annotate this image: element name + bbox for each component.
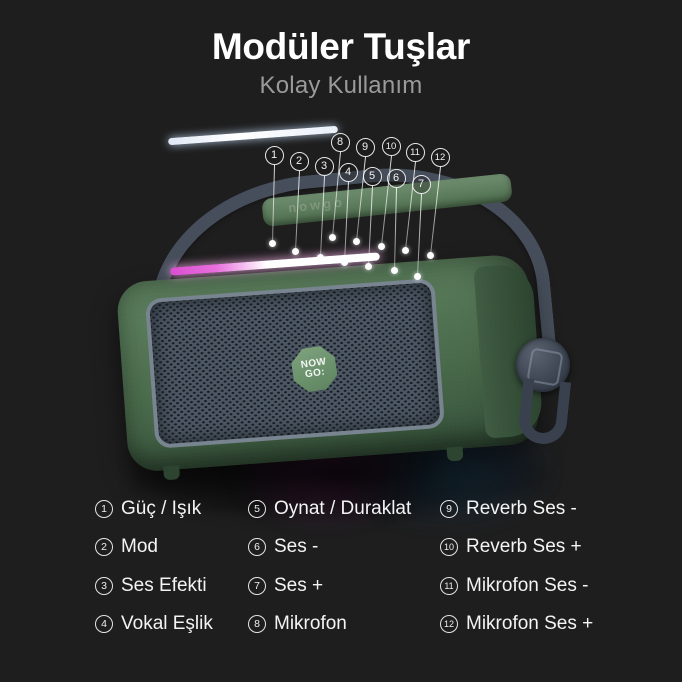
speaker-foot-right [447,446,464,461]
callout-endpoint-10 [378,243,385,250]
legend-label-4: Vokal Eşlik [121,613,213,635]
legend-label-3: Ses Efekti [121,575,207,597]
callout-endpoint-4 [341,259,348,266]
callout-marker-9[interactable]: 9 [356,138,375,157]
legend-number-3: 3 [95,577,113,595]
legend-list: 1Güç / Işık2Mod3Ses Efekti4Vokal Eşlik5O… [0,488,682,668]
legend-number-7: 7 [248,577,266,595]
legend-item-11: 11Mikrofon Ses - [440,575,588,597]
product-photo: nowgo nowgo NOW GO: 123456789101112 [0,110,682,480]
legend-number-1: 1 [95,500,113,518]
callout-endpoint-6 [391,267,398,274]
callout-endpoint-5 [365,263,372,270]
callout-marker-8[interactable]: 8 [331,133,350,152]
legend-number-4: 4 [95,615,113,633]
speaker-body: NOW GO: [116,253,541,473]
legend-label-6: Ses - [274,536,318,558]
legend-item-7: 7Ses + [248,575,323,597]
speaker-foot-left [163,465,180,480]
infographic-root: Modüler Tuşlar Kolay Kullanım nowgo nowg… [0,0,682,682]
callout-marker-1[interactable]: 1 [265,146,284,165]
legend-item-1: 1Güç / Işık [95,498,201,520]
legend-item-5: 5Oynat / Duraklat [248,498,411,520]
legend-label-12: Mikrofon Ses + [466,613,593,635]
callout-marker-11[interactable]: 11 [406,143,425,162]
legend-number-11: 11 [440,577,458,595]
led-light-bar-top [168,126,338,145]
logo-line-2: GO: [304,368,325,381]
legend-number-9: 9 [440,500,458,518]
callout-endpoint-1 [269,240,276,247]
page-title: Modüler Tuşlar [0,26,682,68]
legend-number-5: 5 [248,500,266,518]
legend-item-3: 3Ses Efekti [95,575,207,597]
page-subtitle: Kolay Kullanım [0,72,682,100]
callout-marker-4[interactable]: 4 [339,163,358,182]
legend-label-11: Mikrofon Ses - [466,575,588,597]
legend-label-8: Mikrofon [274,613,347,635]
callout-marker-3[interactable]: 3 [315,157,334,176]
callout-endpoint-2 [292,248,299,255]
legend-label-10: Reverb Ses + [466,536,582,558]
callout-endpoint-7 [414,273,421,280]
callout-marker-10[interactable]: 10 [382,137,401,156]
legend-number-6: 6 [248,538,266,556]
callout-endpoint-12 [427,252,434,259]
callout-endpoint-8 [329,234,336,241]
callout-endpoint-3 [317,254,324,261]
legend-number-12: 12 [440,615,458,633]
legend-item-2: 2Mod [95,536,158,558]
legend-label-9: Reverb Ses - [466,498,577,520]
legend-number-2: 2 [95,538,113,556]
legend-label-1: Güç / Işık [121,498,201,520]
legend-item-12: 12Mikrofon Ses + [440,613,593,635]
callout-endpoint-9 [353,238,360,245]
callout-marker-5[interactable]: 5 [363,167,382,186]
legend-item-4: 4Vokal Eşlik [95,613,213,635]
legend-item-8: 8Mikrofon [248,613,347,635]
legend-item-6: 6Ses - [248,536,318,558]
callout-marker-2[interactable]: 2 [290,152,309,171]
legend-item-10: 10Reverb Ses + [440,536,582,558]
legend-label-2: Mod [121,536,158,558]
callout-marker-12[interactable]: 12 [431,148,450,167]
legend-number-8: 8 [248,615,266,633]
legend-label-5: Oynat / Duraklat [274,498,411,520]
legend-item-9: 9Reverb Ses - [440,498,577,520]
legend-label-7: Ses + [274,575,323,597]
carry-strap-tail [517,378,571,447]
callout-endpoint-11 [402,247,409,254]
legend-number-10: 10 [440,538,458,556]
